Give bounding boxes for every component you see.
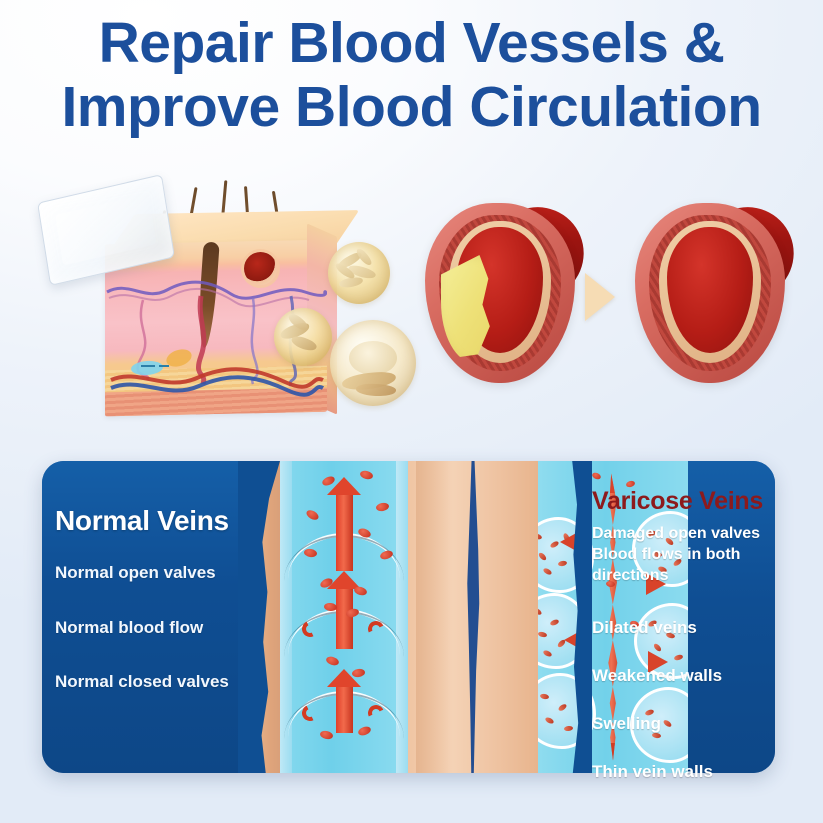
list-item: Normal closed valves [55,672,270,693]
list-item: Normal open valves [55,563,270,584]
herb-circle-seeds-icon [328,242,390,304]
list-item: Weakened walls [592,666,777,686]
herb-circle-extract-icon [330,320,416,406]
clear-artery-cross-section [635,185,785,385]
list-item: Thin vein walls [592,762,777,782]
blood-flow-arrow-up [336,685,353,733]
blood-flow-arrow-up [336,587,353,649]
leg-with-visible-vein [408,461,538,773]
visible-leg-vein [460,461,486,773]
herb-circle-roots-icon [274,308,332,366]
varicose-veins-heading: Varicose Veins [592,487,777,516]
list-item: Swelling [592,714,777,734]
poster-canvas: Repair Blood Vessels & Improve Blood Cir… [0,0,823,823]
normal-veins-text-block: Normal Veins Normal open valves Normal b… [55,505,270,727]
clogged-artery-cross-section [425,185,575,385]
artery-comparison-illustration [425,185,805,430]
varicose-veins-subtext: Damaged open valves Blood flows in both … [592,524,777,586]
normal-vein-diagram [280,461,408,773]
title-line-2: Improve Blood Circulation [0,78,823,136]
leg-shading [416,461,450,773]
normal-veins-heading: Normal Veins [55,505,270,537]
list-item: Dilated veins [592,618,777,638]
transform-arrow-icon [585,273,615,321]
varicose-veins-text-block: Varicose Veins Damaged open valves Blood… [592,487,777,810]
poster-title: Repair Blood Vessels & Improve Blood Cir… [0,14,823,136]
blood-flow-arrow-up [336,493,353,571]
list-item: Normal blood flow [55,618,270,639]
normal-veins-list: Normal open valves Normal blood flow Nor… [55,563,270,693]
skin-cross-section-illustration [30,180,420,430]
title-line-1: Repair Blood Vessels & [0,14,823,72]
varicose-veins-list: Dilated veins Weakened walls Swelling Th… [592,618,777,782]
